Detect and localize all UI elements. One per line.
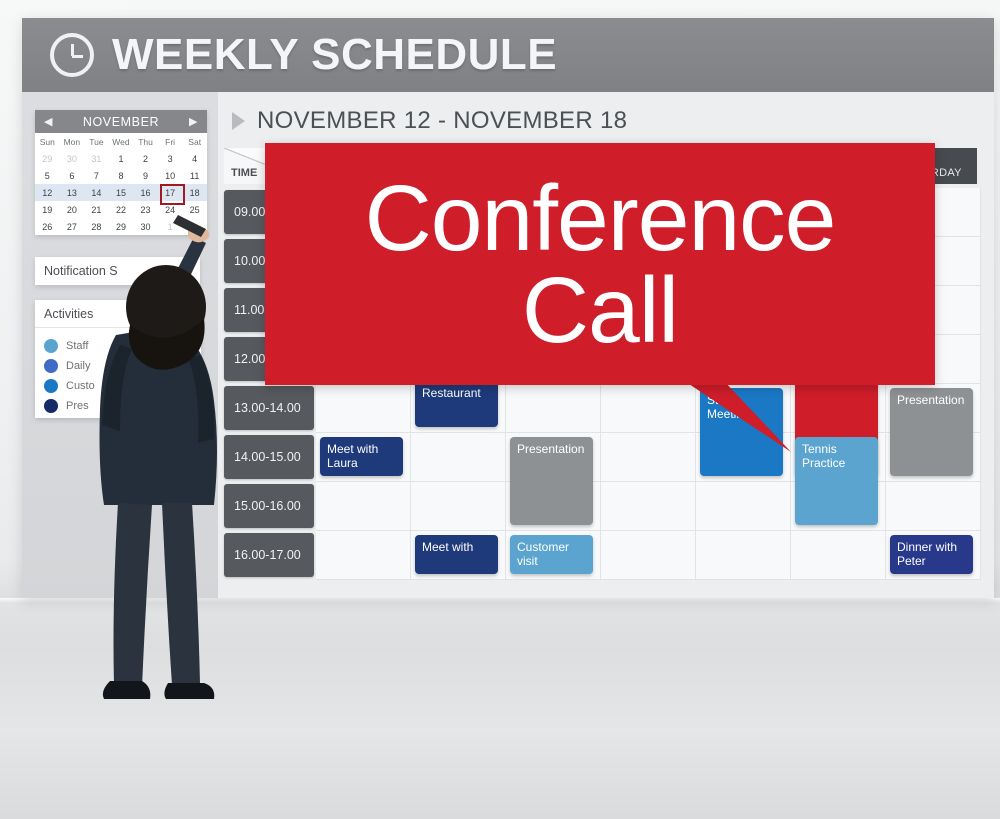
schedule-cell[interactable] bbox=[411, 433, 506, 482]
legend-color-dot bbox=[44, 399, 58, 413]
mini-calendar-weekday-5: Fri bbox=[158, 133, 183, 150]
app-titlebar: WEEKLY SCHEDULE bbox=[22, 18, 994, 92]
overlay-line-2: Call bbox=[522, 265, 678, 355]
schedule-cell[interactable] bbox=[411, 482, 506, 531]
mini-calendar-day[interactable]: 19 bbox=[35, 201, 60, 218]
schedule-cell[interactable] bbox=[601, 531, 696, 580]
legend-color-dot bbox=[44, 379, 58, 393]
schedule-cell[interactable] bbox=[506, 384, 601, 433]
time-axis-label: TIME bbox=[231, 167, 257, 179]
mini-calendar-month: NOVEMBER bbox=[83, 115, 159, 129]
schedule-event[interactable]: Tennis Practice bbox=[795, 437, 878, 525]
schedule-cell[interactable] bbox=[316, 482, 411, 531]
mini-calendar-week-row: 2930311234 bbox=[35, 150, 207, 167]
schedule-event[interactable]: Meet with bbox=[415, 535, 498, 574]
businessman-figure bbox=[60, 185, 240, 705]
week-range-header: NOVEMBER 12 - NOVEMBER 18 bbox=[232, 107, 627, 135]
schedule-cell[interactable] bbox=[316, 384, 411, 433]
mini-calendar-weekday-0: Sun bbox=[35, 133, 60, 150]
mini-calendar-day[interactable]: 4 bbox=[182, 150, 207, 167]
mini-calendar-weekday-4: Thu bbox=[133, 133, 158, 150]
schedule-event[interactable]: Presentation bbox=[890, 388, 973, 476]
mini-calendar-day[interactable]: 10 bbox=[158, 167, 183, 184]
triangle-right-icon[interactable]: ▶ bbox=[189, 115, 198, 128]
page-title: WEEKLY SCHEDULE bbox=[112, 30, 557, 80]
mini-calendar-day[interactable]: 6 bbox=[60, 167, 85, 184]
mini-calendar-weekday-1: Mon bbox=[60, 133, 85, 150]
week-range-label: NOVEMBER 12 - NOVEMBER 18 bbox=[257, 107, 627, 135]
overlay-line-1: Conference bbox=[365, 173, 836, 263]
speech-bubble-tail bbox=[683, 380, 793, 455]
mini-calendar-day[interactable]: 5 bbox=[35, 167, 60, 184]
mini-calendar-day[interactable]: 8 bbox=[109, 167, 134, 184]
legend-color-dot bbox=[44, 359, 58, 373]
schedule-cell[interactable] bbox=[696, 531, 791, 580]
mini-calendar-week-row: 567891011 bbox=[35, 167, 207, 184]
mini-calendar-day[interactable]: 11 bbox=[182, 167, 207, 184]
schedule-cell[interactable] bbox=[886, 482, 981, 531]
schedule-cell[interactable] bbox=[601, 384, 696, 433]
mini-calendar-day[interactable]: 12 bbox=[35, 184, 60, 201]
triangle-right-icon bbox=[232, 112, 245, 130]
clock-icon bbox=[50, 33, 94, 77]
mini-calendar-weekday-row: SunMonTueWedThuFriSat bbox=[35, 133, 207, 150]
mini-calendar-weekday-2: Tue bbox=[84, 133, 109, 150]
mini-calendar-weekday-3: Wed bbox=[109, 133, 134, 150]
triangle-left-icon[interactable]: ◀ bbox=[44, 115, 53, 128]
schedule-cell[interactable] bbox=[696, 482, 791, 531]
schedule-cell[interactable] bbox=[601, 433, 696, 482]
mini-calendar-day[interactable]: 3 bbox=[158, 150, 183, 167]
mini-calendar-header: ◀ NOVEMBER ▶ bbox=[35, 110, 207, 133]
mini-calendar-day[interactable]: 29 bbox=[35, 150, 60, 167]
schedule-event[interactable]: Meet with Laura bbox=[320, 437, 403, 476]
mini-calendar-day[interactable]: 7 bbox=[84, 167, 109, 184]
mini-calendar-day[interactable]: 26 bbox=[35, 218, 60, 235]
schedule-cell[interactable] bbox=[601, 482, 696, 531]
schedule-cell[interactable] bbox=[791, 531, 886, 580]
conference-call-text: Conference Call bbox=[265, 143, 935, 385]
mini-calendar-day[interactable]: 2 bbox=[133, 150, 158, 167]
mini-calendar-day[interactable]: 30 bbox=[60, 150, 85, 167]
mini-calendar-day[interactable]: 1 bbox=[109, 150, 134, 167]
legend-color-dot bbox=[44, 339, 58, 353]
schedule-event[interactable]: Customer visit bbox=[510, 535, 593, 574]
mini-calendar-day[interactable]: 31 bbox=[84, 150, 109, 167]
mini-calendar-weekday-6: Sat bbox=[182, 133, 207, 150]
mini-calendar-day[interactable]: 9 bbox=[133, 167, 158, 184]
schedule-event[interactable]: Presentation bbox=[510, 437, 593, 525]
schedule-cell[interactable] bbox=[316, 531, 411, 580]
schedule-event[interactable]: Dinner with Peter bbox=[890, 535, 973, 574]
